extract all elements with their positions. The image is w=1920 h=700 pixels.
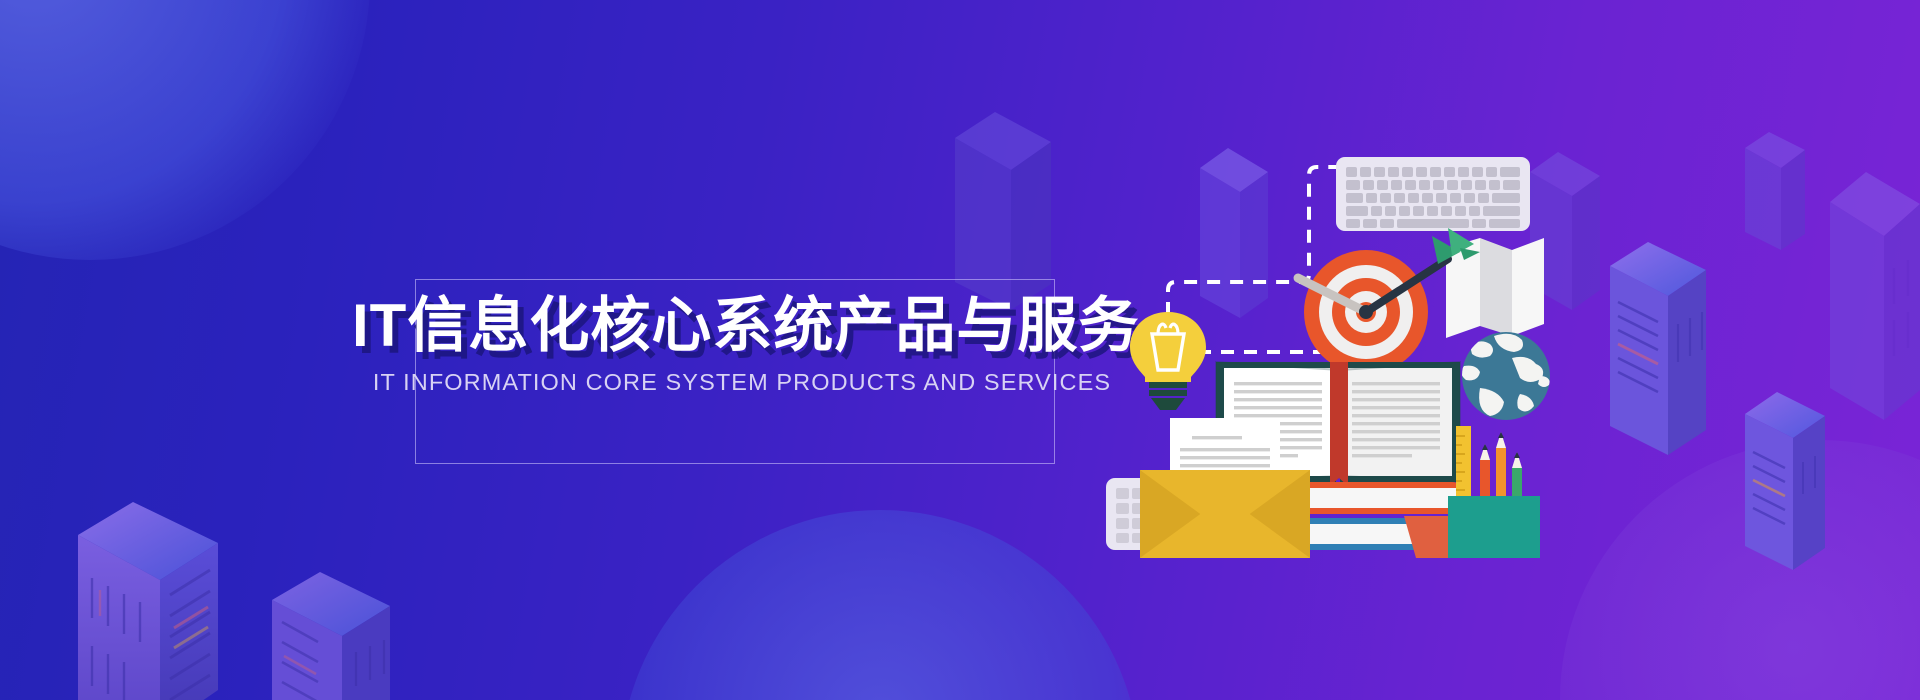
- bottom-center-glow-circle: [620, 510, 1140, 700]
- it-services-hero-banner: IT信息化核心系统产品与服务 IT INFORMATION CORE SYSTE…: [0, 0, 1920, 700]
- page-title: IT信息化核心系统产品与服务: [352, 295, 1132, 356]
- building-right-tall: [1745, 390, 1825, 570]
- bottom-right-glow-circle: [1560, 440, 1920, 700]
- pencil-holder-icon: [1448, 426, 1540, 558]
- bookmark-icon: [1330, 362, 1348, 486]
- envelope-icon: [1140, 470, 1310, 558]
- keyboard-icon: [1336, 157, 1530, 231]
- building-right-wide: [1830, 170, 1920, 420]
- building-right-slim: [1610, 240, 1706, 455]
- map-icon: [1446, 238, 1544, 338]
- building-right-small: [1745, 130, 1805, 250]
- building-left-tall: [78, 500, 218, 700]
- building-illustration-backdrop: [1200, 148, 1268, 318]
- page-subtitle: IT INFORMATION CORE SYSTEM PRODUCTS AND …: [352, 369, 1132, 396]
- lightbulb-icon: [1130, 312, 1206, 410]
- top-left-glow-circle: [0, 0, 370, 260]
- building-left-short: [272, 570, 390, 700]
- it-services-flat-illustration: [1108, 130, 1578, 590]
- globe-icon: [1461, 332, 1550, 420]
- headline-block: IT信息化核心系统产品与服务 IT INFORMATION CORE SYSTE…: [352, 295, 1132, 396]
